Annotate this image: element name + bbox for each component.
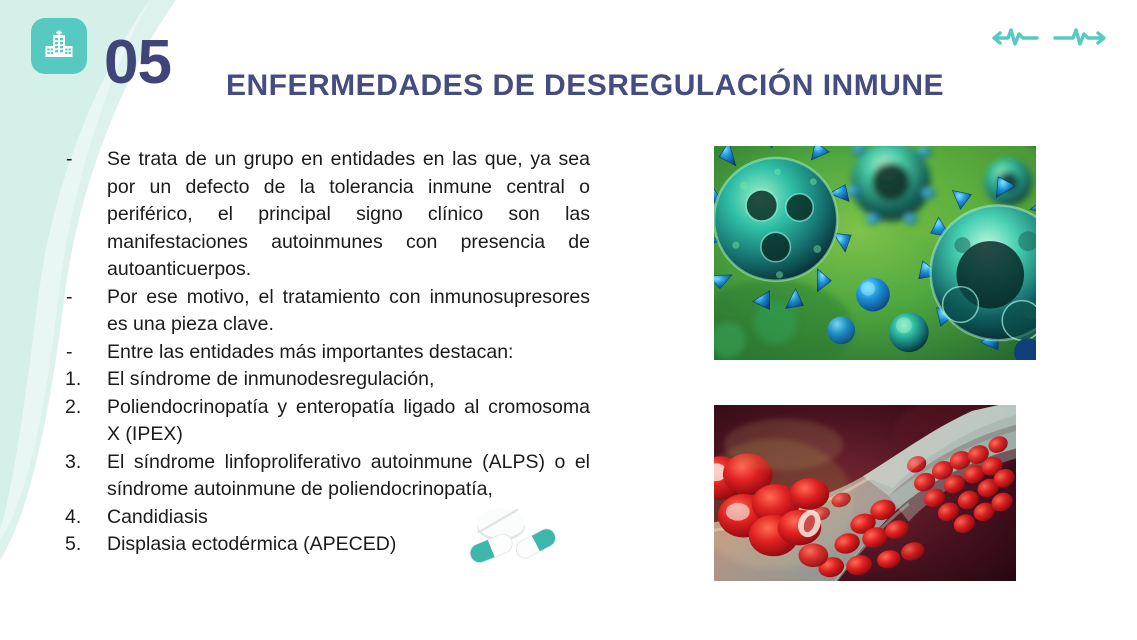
page-title: ENFERMEDADES DE DESREGULACIÓN INMUNE bbox=[226, 69, 944, 103]
content-list: - Se trata de un grupo en entidades en l… bbox=[63, 146, 590, 559]
list-item: 1. El síndrome de inmunodesregulación, bbox=[63, 366, 590, 394]
list-marker: - bbox=[63, 284, 107, 312]
list-item: 3. El síndrome linfoproliferativo autoin… bbox=[63, 449, 590, 504]
heartbeat-arrow-right-icon bbox=[1055, 30, 1104, 44]
heartbeat-arrow-left-icon bbox=[994, 30, 1037, 44]
ecg-decoration bbox=[987, 16, 1115, 56]
list-text: El síndrome de inmunodesregulación, bbox=[107, 366, 590, 394]
list-item: - Entre las entidades más importantes de… bbox=[63, 339, 590, 367]
list-marker: 5. bbox=[63, 531, 107, 559]
slide: 05 ENFERMEDADES DE DESREGULACIÓN INMUNE … bbox=[0, 0, 1137, 640]
list-text: Se trata de un grupo en entidades en las… bbox=[107, 146, 590, 284]
section-number: 05 bbox=[104, 32, 171, 94]
list-marker: 1. bbox=[63, 366, 107, 394]
list-text: Entre las entidades más importantes dest… bbox=[107, 339, 590, 367]
list-text: Por ese motivo, el tratamiento con inmun… bbox=[107, 284, 590, 339]
list-marker: 2. bbox=[63, 394, 107, 422]
list-marker: 3. bbox=[63, 449, 107, 477]
slide-header: 05 ENFERMEDADES DE DESREGULACIÓN INMUNE bbox=[0, 0, 1137, 130]
list-item: 2. Poliendocrinopatía y enteropatía liga… bbox=[63, 394, 590, 449]
list-marker: 4. bbox=[63, 504, 107, 532]
list-text: El síndrome linfoproliferativo autoinmun… bbox=[107, 449, 590, 504]
list-marker: - bbox=[63, 146, 107, 174]
blood-vessel-photo bbox=[713, 404, 1017, 582]
pills-capsules-icon bbox=[455, 504, 559, 572]
list-text: Poliendocrinopatía y enteropatía ligado … bbox=[107, 394, 590, 449]
virus-particles-photo bbox=[713, 145, 1037, 361]
list-item: - Por ese motivo, el tratamiento con inm… bbox=[63, 284, 590, 339]
list-item: - Se trata de un grupo en entidades en l… bbox=[63, 146, 590, 284]
list-marker: - bbox=[63, 339, 107, 367]
hospital-building-icon bbox=[31, 18, 87, 74]
